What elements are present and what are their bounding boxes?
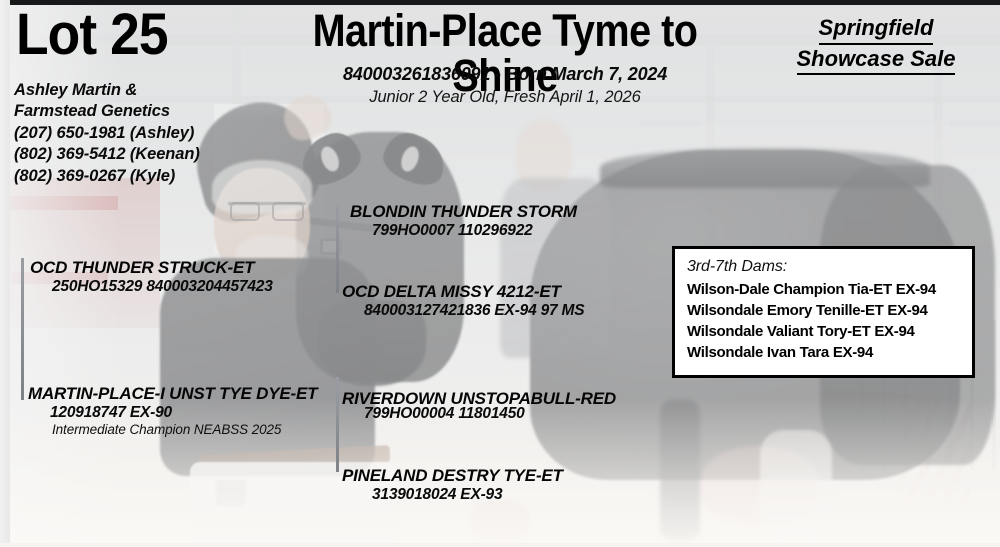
- dams-box-title: 3rd-7th Dams:: [687, 256, 972, 278]
- pedigree-ids: 3139018024 EX-93: [342, 486, 563, 504]
- consignor-phone: (802) 369-0267 (Kyle): [14, 166, 200, 187]
- pedigree-name: BLONDIN THUNDER STORM: [350, 202, 577, 222]
- sale-title-line-1: Springfield: [819, 14, 934, 45]
- dams-box-entry: Wilsondale Valiant Tory-ET EX-94: [687, 321, 972, 342]
- pedigree-entry-sire-of-sire: BLONDIN THUNDER STORM 799HO0007 11029692…: [350, 202, 577, 240]
- consignor-line: Ashley Martin &: [14, 80, 200, 101]
- pedigree-name: OCD THUNDER STRUCK-ET: [30, 258, 273, 278]
- pedigree-ids: 799HO0007 110296922: [350, 222, 577, 240]
- pedigree-name: MARTIN-PLACE-I UNST TYE DYE-ET: [28, 384, 317, 404]
- pedigree-note: Intermediate Champion NEABSS 2025: [28, 422, 317, 437]
- pedigree-ids: 120918747 EX-90: [28, 404, 317, 422]
- consignor-phone: (207) 650-1981 (Ashley): [14, 123, 200, 144]
- pedigree-entry-dam: MARTIN-PLACE-I UNST TYE DYE-ET 120918747…: [28, 384, 317, 437]
- consignor-contact-block: Ashley Martin & Farmstead Genetics (207)…: [14, 80, 200, 187]
- pedigree-bracket-sire-parents: [336, 205, 339, 293]
- pedigree-entry-dam-of-sire: OCD DELTA MISSY 4212-ET 840003127421836 …: [342, 282, 584, 320]
- pedigree-name: OCD DELTA MISSY 4212-ET: [342, 282, 584, 302]
- pedigree-bracket-sire: [21, 258, 24, 400]
- registration-and-birth-line: 840003261836091 - Born March 7, 2024: [250, 64, 760, 85]
- dams-box-list: Wilson-Dale Champion Tia-ET EX-94 Wilson…: [687, 279, 972, 364]
- pedigree-ids: 250HO15329 840003204457423: [30, 278, 273, 296]
- consignor-phone: (802) 369-5412 (Keenan): [14, 144, 200, 165]
- sale-catalog-page: Lot 25 Ashley Martin & Farmstead Genetic…: [0, 0, 1000, 547]
- dams-box-entry: Wilson-Dale Champion Tia-ET EX-94: [687, 279, 972, 300]
- pedigree-entry-sire: OCD THUNDER STRUCK-ET 250HO15329 8400032…: [30, 258, 273, 296]
- consignor-line: Farmstead Genetics: [14, 101, 200, 122]
- pedigree-ids: 840003127421836 EX-94 97 MS: [342, 302, 584, 320]
- pedigree-entry-sire-of-dam: RIVERDOWN UNSTOPABULL-RED 799HO00004 118…: [342, 389, 616, 423]
- dams-box: 3rd-7th Dams: Wilson-Dale Champion Tia-E…: [672, 246, 975, 378]
- dams-box-entry: Wilsondale Ivan Tara EX-94: [687, 342, 972, 363]
- sale-title-line-2: Showcase Sale: [797, 45, 956, 76]
- dams-box-entry: Wilsondale Emory Tenille-ET EX-94: [687, 300, 972, 321]
- pedigree-entry-dam-of-dam: PINELAND DESTRY TYE-ET 3139018024 EX-93: [342, 466, 563, 504]
- pedigree-name: PINELAND DESTRY TYE-ET: [342, 466, 563, 486]
- lot-number: Lot 25: [16, 6, 168, 64]
- age-and-fresh-line: Junior 2 Year Old, Fresh April 1, 2026: [250, 88, 760, 107]
- sale-title: Springfield Showcase Sale: [760, 14, 992, 75]
- pedigree-bracket-dam-parents: [336, 377, 339, 472]
